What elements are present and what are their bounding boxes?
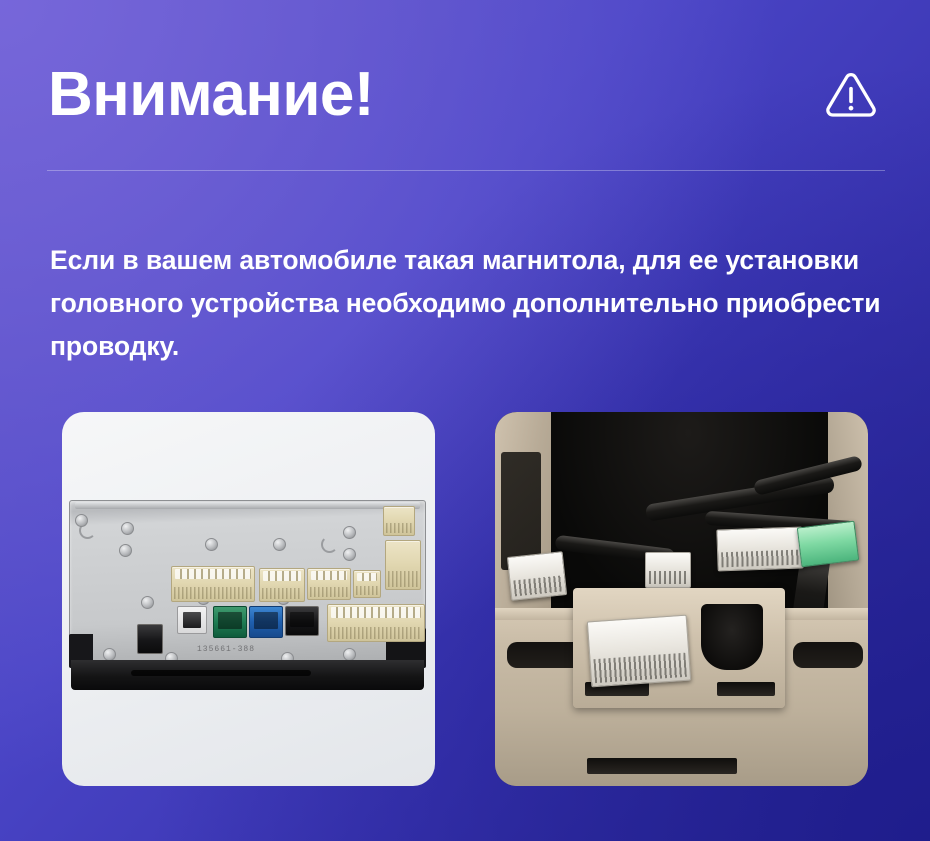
harness-connector-white-left bbox=[507, 551, 567, 601]
photo-gallery: 135661-388 bbox=[62, 412, 868, 786]
warning-banner-page: Внимание! Если в вашем автомобиле такая … bbox=[0, 0, 930, 841]
header: Внимание! bbox=[48, 52, 886, 138]
head-unit-part-number: 135661-388 bbox=[197, 645, 255, 654]
head-unit-photo-canvas: 135661-388 bbox=[62, 412, 435, 786]
harness-connector-white-large bbox=[716, 527, 803, 572]
car-head-unit-rear-photo: 135661-388 bbox=[62, 412, 435, 786]
dashboard-wiring-harness-photo bbox=[495, 412, 868, 786]
head-unit-chassis: 135661-388 bbox=[69, 500, 426, 690]
warning-message: Если в вашем автомобиле такая магнитола,… bbox=[50, 239, 895, 368]
harness-connector-white-foreground bbox=[587, 615, 691, 688]
header-divider bbox=[47, 170, 885, 171]
dashboard-photo-canvas bbox=[495, 412, 868, 786]
page-title: Внимание! bbox=[48, 64, 374, 126]
harness-connector-green bbox=[797, 521, 859, 568]
warning-triangle-icon bbox=[822, 66, 880, 124]
harness-connector-white-mid bbox=[645, 552, 691, 588]
